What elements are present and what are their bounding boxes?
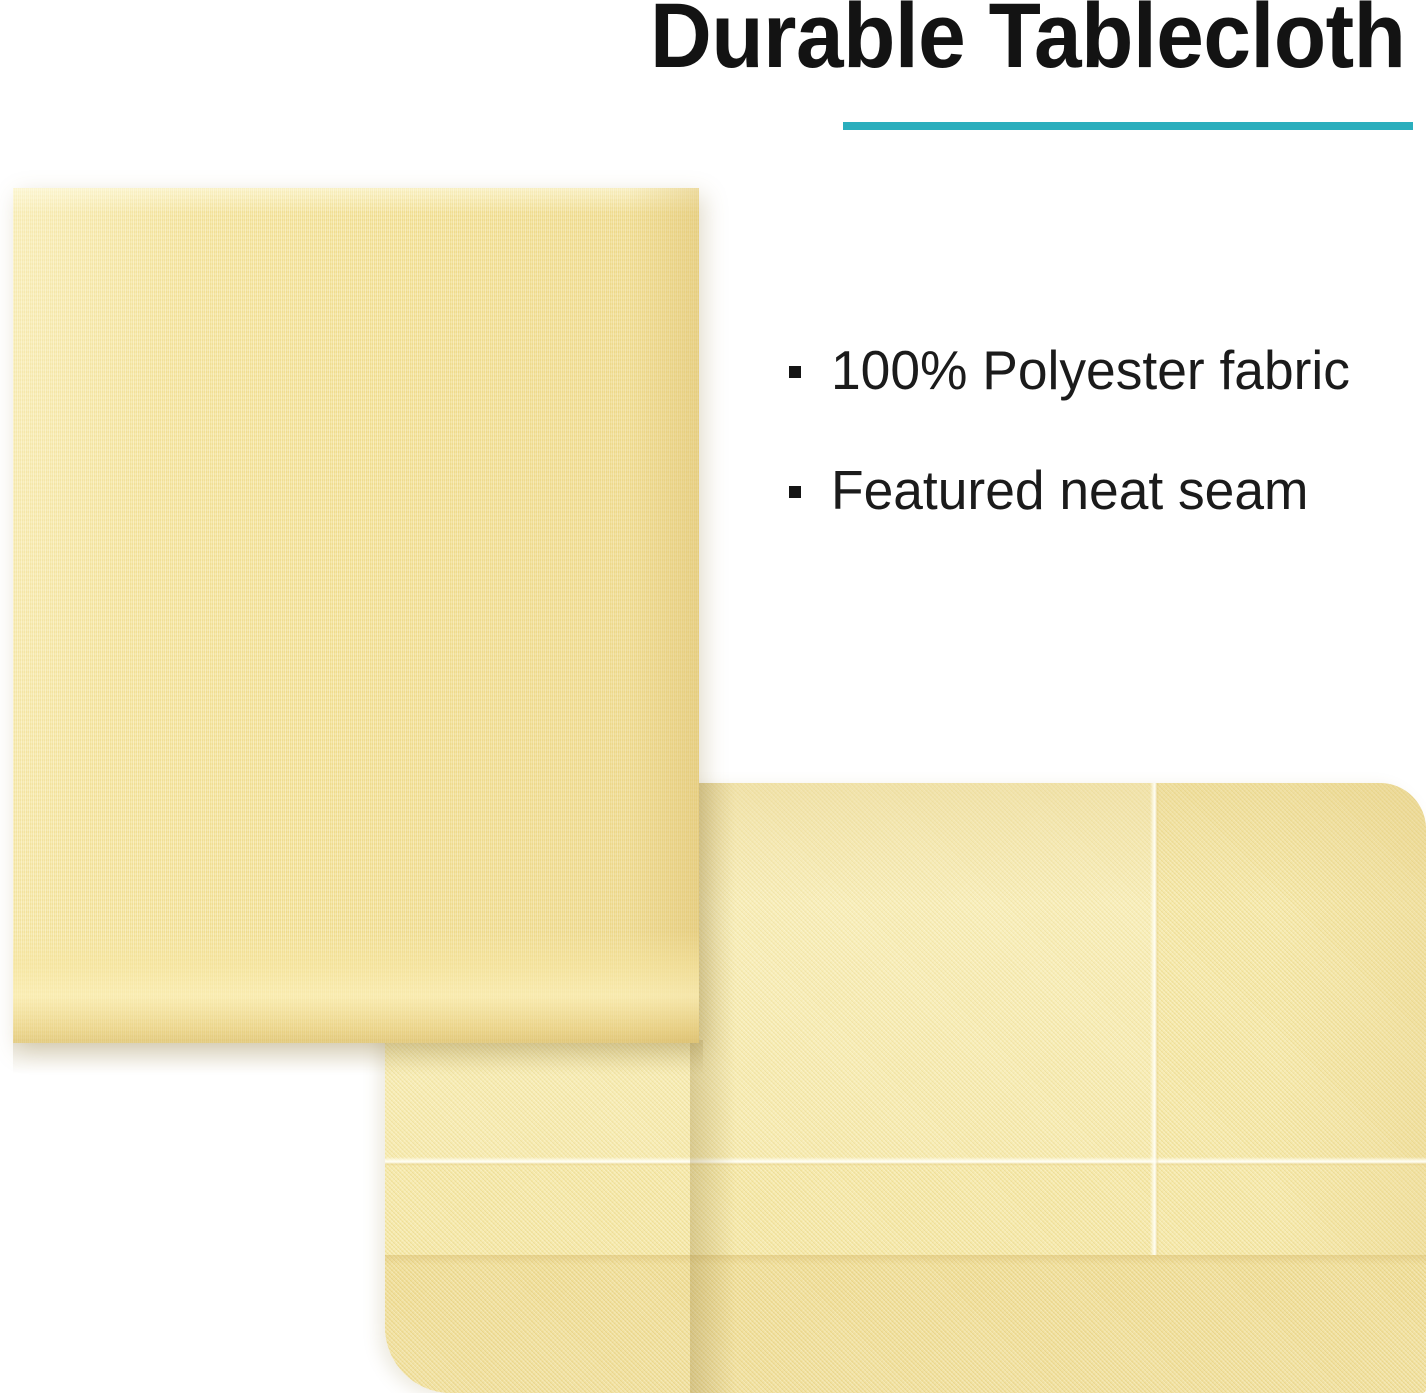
product-feature-image: Durable Tablecloth 100% Polyester fabric… bbox=[0, 0, 1426, 1393]
title-divider bbox=[843, 122, 1413, 130]
page-title: Durable Tablecloth bbox=[650, 0, 1372, 85]
right-edge-shading bbox=[627, 188, 699, 1043]
bottom-fold-band bbox=[385, 1255, 1426, 1393]
feature-label: Featured neat seam bbox=[831, 460, 1308, 522]
feature-label: 100% Polyester fabric bbox=[831, 340, 1350, 402]
horizontal-hem-seam bbox=[385, 1157, 1426, 1166]
list-item: Featured neat seam bbox=[789, 460, 1409, 522]
square-bullet-icon bbox=[789, 366, 801, 378]
top-fold-lip bbox=[13, 188, 699, 214]
fabric-sheen bbox=[13, 188, 699, 1043]
bottom-fold-roll bbox=[13, 931, 699, 1043]
fold-band-weave-texture bbox=[385, 1255, 1426, 1393]
feature-list: 100% Polyester fabric Featured neat seam bbox=[789, 340, 1409, 579]
fold-band-edge bbox=[385, 1255, 1426, 1265]
square-bullet-icon bbox=[789, 486, 801, 498]
list-item: 100% Polyester fabric bbox=[789, 340, 1409, 402]
upper-folded-tablecloth bbox=[13, 188, 699, 1043]
